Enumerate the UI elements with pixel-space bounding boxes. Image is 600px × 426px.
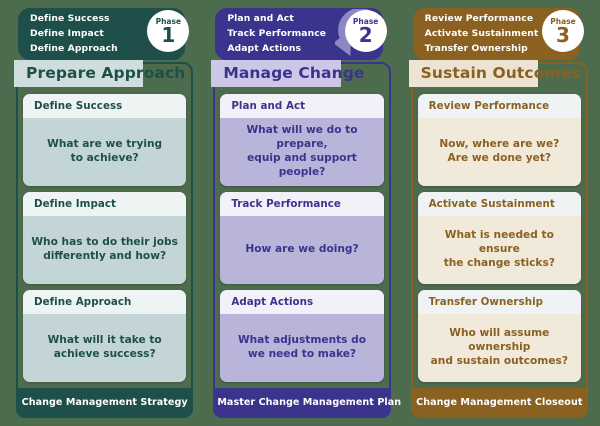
- column-footer-label: Master Change Management Plan: [213, 388, 390, 418]
- phase-bullet: Review Performance: [425, 12, 539, 26]
- phase-badge: Phase 2: [345, 10, 387, 52]
- card-stack: Plan and Act What will we do to prepare,…: [205, 87, 396, 388]
- phase-bullet: Define Success: [30, 12, 118, 26]
- phase-bullet: Transfer Ownership: [425, 42, 539, 56]
- step-card: Define Impact Who has to do their jobsdi…: [23, 192, 186, 284]
- column-title: Manage Change: [211, 60, 340, 87]
- step-card: Activate Sustainment What is needed to e…: [418, 192, 581, 284]
- step-card-question: Who has to do their jobsdifferently and …: [23, 216, 186, 284]
- step-card-question: What are we tryingto achieve?: [23, 118, 186, 186]
- step-card-heading: Define Success: [23, 94, 186, 118]
- phase-header-pill: Review Performance Activate Sustainment …: [413, 8, 580, 60]
- step-card-question: Now, where are we?Are we done yet?: [418, 118, 581, 186]
- step-card: Define Approach What will it take toachi…: [23, 290, 186, 382]
- step-card-heading: Review Performance: [418, 94, 581, 118]
- step-card-heading: Plan and Act: [220, 94, 383, 118]
- change-management-phases-diagram: Define Success Define Impact Define Appr…: [0, 0, 600, 426]
- step-card: Adapt Actions What adjustments dowe need…: [220, 290, 383, 382]
- phase-bullet: Track Performance: [227, 27, 326, 41]
- column-footer-label: Change Management Closeout: [411, 388, 588, 418]
- column-footer-label: Change Management Strategy: [16, 388, 193, 418]
- step-card-heading: Activate Sustainment: [418, 192, 581, 216]
- card-stack: Define Success What are we tryingto achi…: [8, 87, 199, 388]
- phase-bullet: Adapt Actions: [227, 42, 326, 56]
- phase-bullet-list: Plan and Act Track Performance Adapt Act…: [227, 12, 326, 56]
- phase-badge-number: 2: [359, 25, 373, 45]
- step-card-question: Who will assume ownershipand sustain out…: [418, 314, 581, 382]
- step-card-question: What will it take toachieve success?: [23, 314, 186, 382]
- phase-badge-number: 1: [161, 25, 175, 45]
- phase-badge-wrap: Phase 1: [141, 10, 189, 58]
- step-card: Review Performance Now, where are we?Are…: [418, 94, 581, 186]
- phase-header-pill: Define Success Define Impact Define Appr…: [18, 8, 185, 60]
- phase-bullet: Plan and Act: [227, 12, 326, 26]
- phase-badge-number: 3: [556, 25, 570, 45]
- phase-column-manage-change: Plan and Act Track Performance Adapt Act…: [205, 8, 396, 418]
- step-card-heading: Define Approach: [23, 290, 186, 314]
- step-card: Define Success What are we tryingto achi…: [23, 94, 186, 186]
- step-card: Transfer Ownership Who will assume owner…: [418, 290, 581, 382]
- phase-badge-wrap: Phase 2: [339, 10, 387, 58]
- step-card-question: What will we do to prepare,equip and sup…: [220, 118, 383, 186]
- phase-badge: Phase 1: [147, 10, 189, 52]
- phase-column-prepare-approach: Define Success Define Impact Define Appr…: [8, 8, 199, 418]
- phase-header-pill: Plan and Act Track Performance Adapt Act…: [215, 8, 382, 60]
- step-card-question: What adjustments dowe need to make?: [220, 314, 383, 382]
- phase-bullet-list: Define Success Define Impact Define Appr…: [30, 12, 118, 56]
- step-card-heading: Adapt Actions: [220, 290, 383, 314]
- phase-badge-wrap: Phase 3: [536, 10, 584, 58]
- phase-bullet: Define Approach: [30, 42, 118, 56]
- step-card: Track Performance How are we doing?: [220, 192, 383, 284]
- column-title: Prepare Approach: [14, 60, 143, 87]
- step-card-heading: Track Performance: [220, 192, 383, 216]
- phase-column-sustain-outcomes: Review Performance Activate Sustainment …: [403, 8, 594, 418]
- phase-bullet-list: Review Performance Activate Sustainment …: [425, 12, 539, 56]
- phase-badge: Phase 3: [542, 10, 584, 52]
- step-card-heading: Transfer Ownership: [418, 290, 581, 314]
- card-stack: Review Performance Now, where are we?Are…: [403, 87, 594, 388]
- step-card-question: How are we doing?: [220, 216, 383, 284]
- step-card: Plan and Act What will we do to prepare,…: [220, 94, 383, 186]
- step-card-question: What is needed to ensurethe change stick…: [418, 216, 581, 284]
- step-card-heading: Define Impact: [23, 192, 186, 216]
- column-title: Sustain Outcomes: [409, 60, 538, 87]
- phase-bullet: Define Impact: [30, 27, 118, 41]
- phase-bullet: Activate Sustainment: [425, 27, 539, 41]
